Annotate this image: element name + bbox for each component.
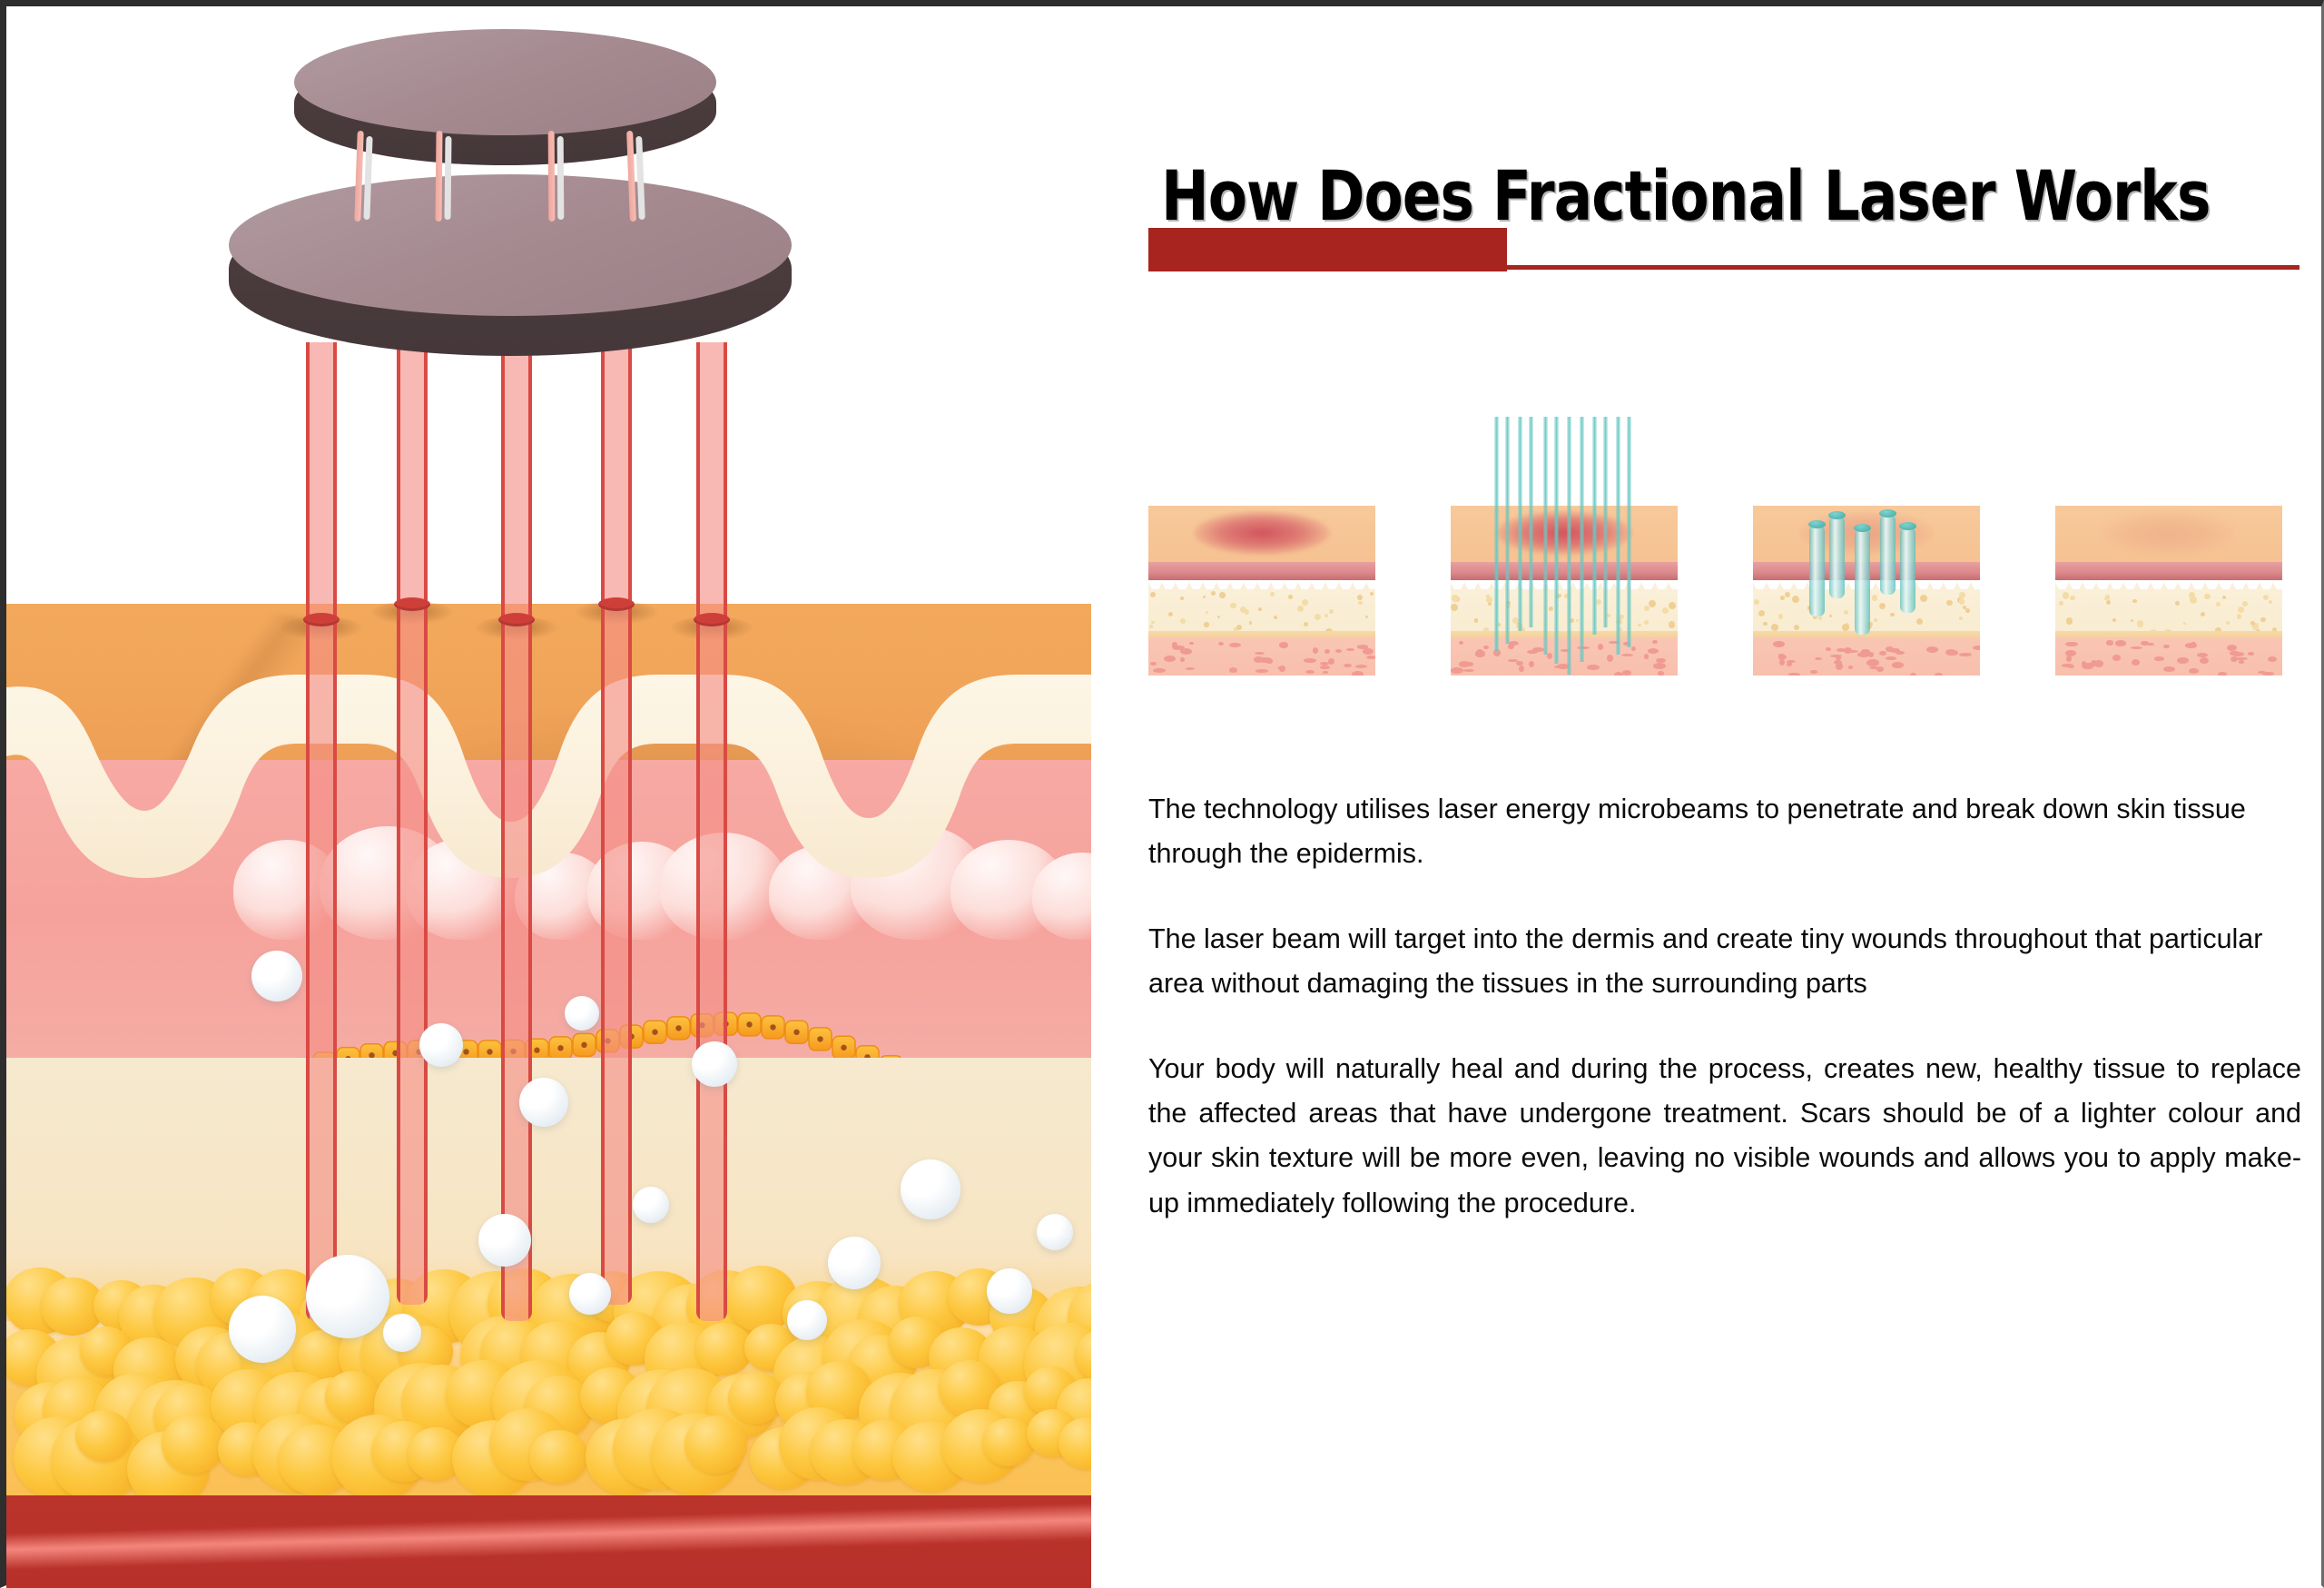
dermis-speck — [1916, 618, 1923, 625]
micro-channel-column — [1900, 526, 1915, 613]
hypodermis-dot — [1153, 668, 1166, 673]
hypodermis-dot — [1834, 660, 1842, 665]
hypodermis-dot — [2065, 642, 2078, 646]
basal-cell — [573, 1033, 596, 1056]
laser-microbeam — [1494, 417, 1499, 651]
beam-entry-lip — [303, 613, 340, 626]
hypodermis-dot — [1529, 661, 1534, 667]
dermis-speck — [1304, 622, 1308, 626]
tissue-bubble — [565, 996, 599, 1031]
micro-channel-cap — [1828, 511, 1846, 519]
dermis-speck — [2063, 592, 2069, 598]
fat-globule — [982, 1418, 1035, 1466]
hypodermis-dot — [1652, 640, 1657, 644]
hypodermis-dot — [1279, 642, 1288, 648]
hypodermis-dot — [2268, 656, 2276, 662]
hypodermis-dot — [2065, 650, 2076, 656]
dermis-speck — [1946, 600, 1952, 606]
hypodermis-dot — [1186, 667, 1194, 670]
panel-microchannels — [1753, 417, 1980, 676]
basal-cell — [785, 1021, 808, 1043]
dermis-speck — [2226, 621, 2230, 625]
fat-globule — [529, 1430, 588, 1484]
beam-entry-lip — [598, 597, 635, 611]
laser-microbeam — [1592, 417, 1597, 635]
tissue-bubble — [229, 1296, 296, 1363]
dermis-speck — [1874, 618, 1877, 622]
hypodermis-dot — [1621, 654, 1632, 656]
dermis-speck — [1763, 622, 1767, 626]
laser-microbeam — [1529, 417, 1533, 627]
dermis-speck — [2112, 618, 2116, 622]
hypodermis-dot — [1324, 649, 1330, 654]
scar-lesion — [1194, 511, 1330, 555]
tissue-bubble — [569, 1273, 611, 1315]
laser-beam — [306, 342, 337, 1321]
hypodermis-dot — [1607, 655, 1613, 662]
tissue-bubble — [1037, 1214, 1073, 1250]
dermis-speck — [1180, 597, 1183, 599]
hypodermis-dot — [2218, 672, 2227, 676]
hypodermis-dot — [2197, 653, 2208, 657]
hypodermis-dot — [2112, 655, 2121, 660]
hypodermis-dot — [1892, 662, 1904, 667]
basal-cell — [832, 1036, 855, 1059]
dermis-speck — [1236, 625, 1242, 630]
laser-handpiece-head — [229, 29, 792, 392]
hypodermis-dot — [1837, 648, 1846, 652]
hypodermis-dot — [1945, 649, 1955, 656]
tissue-bubble — [692, 1041, 737, 1087]
tissue-bubble — [306, 1255, 389, 1338]
hypodermis-dot — [1622, 670, 1630, 676]
hypodermis-dot — [1658, 671, 1664, 675]
hypodermis-dot — [2163, 666, 2175, 672]
dermis-speck — [1842, 624, 1849, 631]
lower-emitter-disc — [229, 174, 792, 356]
micro-channel-column — [1855, 528, 1870, 635]
hypodermis-dot — [1778, 654, 1784, 657]
laser-beam — [696, 342, 727, 1321]
micro-channel-cap — [1808, 520, 1826, 528]
dermis-speck — [1965, 608, 1969, 612]
dermis-speck — [1638, 624, 1641, 627]
fat-globule — [325, 1371, 379, 1422]
support-rod-shadow — [557, 136, 565, 220]
tissue-bubble — [383, 1314, 421, 1352]
laser-microbeam — [1505, 417, 1510, 644]
body-copy: The technology utilises laser energy mic… — [1148, 787, 2301, 1226]
beam-entry-lip — [498, 613, 535, 626]
paragraph-3: Your body will naturally heal and during… — [1148, 1047, 2301, 1227]
hypodermis-dot — [1886, 646, 1893, 652]
dermis-speck — [1219, 592, 1226, 598]
tissue-bubble — [478, 1214, 531, 1267]
panel-laser-beams — [1451, 417, 1678, 676]
dermis-speck — [1451, 604, 1458, 611]
title-underline-rule — [1148, 265, 2299, 270]
tissue-bubble — [419, 1023, 463, 1067]
hypodermis-dot — [1279, 666, 1285, 673]
hypodermis-dot — [1648, 648, 1659, 654]
micro-channel-cap — [1879, 509, 1896, 518]
hypodermis-dot — [1475, 652, 1484, 657]
laser-microbeam — [1603, 417, 1608, 627]
hypodermis-dot — [1896, 651, 1905, 654]
dermis-speck — [1288, 595, 1293, 599]
laser-microbeam — [1518, 417, 1522, 631]
basal-cell — [762, 1016, 784, 1039]
content-column: How Does Fractional Laser Works — [1105, 6, 2324, 1588]
beam-entry-lip — [394, 597, 430, 611]
skin-cross-section-illustration — [6, 6, 1091, 1588]
hypodermis-dot — [1366, 656, 1375, 659]
laser-microbeam — [1567, 417, 1571, 675]
hypodermis-dot — [1614, 672, 1623, 676]
dermis-speck — [2132, 599, 2136, 603]
hypodermis-dot — [1653, 663, 1666, 669]
hypodermis-dot — [2106, 640, 2113, 645]
fat-globule — [162, 1415, 226, 1474]
dermis-speck — [2066, 617, 2073, 624]
beam-entry-lip — [694, 613, 730, 626]
hypodermis-dot — [1229, 667, 1237, 673]
dermis-speck — [1329, 609, 1334, 614]
dermis-speck — [1486, 597, 1492, 603]
micro-channel-cap — [1899, 522, 1916, 530]
panel-healed — [2055, 417, 2282, 676]
dermis-speck — [2183, 622, 2186, 625]
dermis-speck — [1662, 607, 1669, 614]
hypodermis-dot — [1787, 660, 1796, 663]
panel-scar-before — [1148, 417, 1375, 676]
dermis-speck — [1780, 596, 1784, 599]
basal-cell — [644, 1021, 666, 1043]
support-rod — [548, 131, 556, 222]
dermis-speck — [1230, 603, 1236, 608]
hypodermis-dot — [2091, 660, 2097, 666]
micro-channel-column — [1809, 524, 1825, 616]
dermis-speck — [1576, 619, 1579, 622]
dermis-speck — [2204, 594, 2211, 600]
dermis-speck — [1149, 625, 1153, 628]
scar-lesion — [1496, 511, 1632, 555]
hypodermis-dot — [1773, 641, 1785, 647]
paragraph-2: The laser beam will target into the derm… — [1148, 917, 2301, 1007]
laser-microbeam — [1627, 417, 1631, 647]
dermis-speck — [1180, 618, 1186, 624]
tissue-bubble — [787, 1300, 827, 1340]
dermis-speck — [1669, 621, 1675, 627]
dermis-speck — [2237, 614, 2241, 618]
page-title-block: How Does Fractional Laser Works — [1148, 161, 2301, 279]
dermis-speck — [1204, 622, 1208, 626]
fat-globule — [75, 1410, 132, 1462]
laser-microbeam — [1554, 417, 1559, 664]
hypodermis-dot — [1861, 649, 1870, 653]
dermis-speck — [1959, 598, 1965, 604]
dermis-speck — [1474, 618, 1479, 623]
dermis-speck — [1302, 599, 1308, 606]
hypodermis-dot — [1935, 673, 1943, 676]
dermis-speck — [1549, 607, 1553, 611]
hypodermis-dot — [2177, 657, 2189, 664]
hypodermis-dot — [2154, 656, 2164, 660]
tissue-bubble — [251, 951, 302, 1001]
dermis-speck — [2131, 619, 2133, 622]
tissue-bubble — [901, 1159, 960, 1219]
dermis-speck — [1649, 600, 1656, 607]
micro-channel-column — [1829, 515, 1845, 598]
hypodermis-dot — [1788, 673, 1799, 676]
hypodermis-dot — [1218, 642, 1224, 646]
dermis-speck — [1488, 602, 1492, 606]
support-rod-shadow — [445, 136, 452, 220]
dermis-speck — [1168, 612, 1173, 616]
basal-cell — [738, 1013, 761, 1036]
hypodermis-dot — [1598, 644, 1603, 650]
dermis-speck — [1206, 611, 1208, 614]
laser-beam — [397, 342, 428, 1305]
hypodermis-dot — [1313, 647, 1318, 654]
dermis-speck — [1258, 607, 1262, 611]
page-frame: How Does Fractional Laser Works — [0, 0, 2324, 1588]
hypodermis-dot — [2230, 656, 2238, 663]
hypodermis-dot — [1848, 666, 1853, 668]
dermis-speck — [1890, 613, 1894, 616]
hypodermis-dot — [1519, 666, 1523, 672]
hypodermis-dot — [1810, 670, 1817, 674]
basal-cell — [809, 1028, 832, 1050]
tissue-bubble — [828, 1237, 881, 1289]
hypodermis-dot — [1180, 657, 1185, 662]
tissue-bubble — [633, 1187, 669, 1223]
dermis-speck — [2242, 601, 2248, 607]
dermis-speck — [1358, 601, 1362, 605]
hypodermis-dot — [1304, 658, 1316, 663]
laser-microbeam — [1580, 417, 1584, 662]
process-panels — [1148, 417, 2283, 680]
dermis-speck — [2250, 621, 2255, 626]
page-title: How Does Fractional Laser Works — [1161, 155, 2211, 236]
hypodermis-dot — [1910, 673, 1915, 676]
tissue-bubble — [519, 1078, 568, 1127]
hypodermis-dot — [1926, 646, 1938, 653]
hypodermis-dot — [1879, 651, 1886, 656]
hypodermis-dot — [1465, 662, 1473, 666]
fat-globules — [6, 1239, 1091, 1503]
hypodermis-dot — [1516, 661, 1522, 666]
dermis-speck — [1217, 616, 1220, 618]
hypodermis-dot — [2200, 657, 2209, 664]
hypodermis-dot — [1320, 666, 1331, 669]
dermis-speck — [2260, 617, 2265, 622]
basal-cell — [549, 1037, 572, 1060]
dermis-speck — [1794, 625, 1799, 630]
laser-beam — [501, 342, 532, 1321]
hypodermis-dot — [1509, 641, 1519, 646]
dermis-speck — [1669, 602, 1676, 609]
dermis-speck — [2137, 620, 2144, 627]
hypodermis-dot — [2115, 640, 2126, 646]
hypodermis-dot — [1463, 669, 1473, 672]
laser-microbeam — [1543, 417, 1548, 655]
dermis-speck — [1758, 610, 1765, 616]
hypodermis-dot — [1164, 656, 1176, 662]
hypodermis-dot — [1363, 648, 1373, 655]
laser-microbeam — [1616, 417, 1620, 655]
laser-beam — [601, 342, 632, 1305]
paragraph-1: The technology utilises laser energy mic… — [1148, 787, 2301, 877]
basal-cell — [667, 1017, 690, 1040]
dermis-speck — [2070, 596, 2074, 600]
micro-channel-column — [1880, 513, 1896, 595]
tissue-bubble — [987, 1268, 1032, 1314]
micro-channel-cap — [1854, 524, 1871, 532]
hypodermis-dot — [2239, 660, 2245, 663]
dermis-speck — [2190, 597, 2196, 603]
dermis-speck — [1778, 614, 1783, 618]
hypodermis-dot — [1256, 669, 1268, 673]
hypodermis-dot — [1259, 657, 1270, 663]
hypodermis-dot — [2185, 643, 2197, 647]
dermis-speck — [1357, 595, 1363, 600]
dermis-speck — [1829, 615, 1832, 617]
residual-mark — [2101, 511, 2237, 555]
support-rod — [435, 131, 442, 222]
hypodermis-dot — [1352, 671, 1363, 676]
dermis-speck — [1249, 621, 1253, 625]
hypodermis-dot — [1973, 646, 1980, 650]
fat-globule — [684, 1415, 747, 1474]
hypodermis-dot — [1866, 659, 1879, 666]
